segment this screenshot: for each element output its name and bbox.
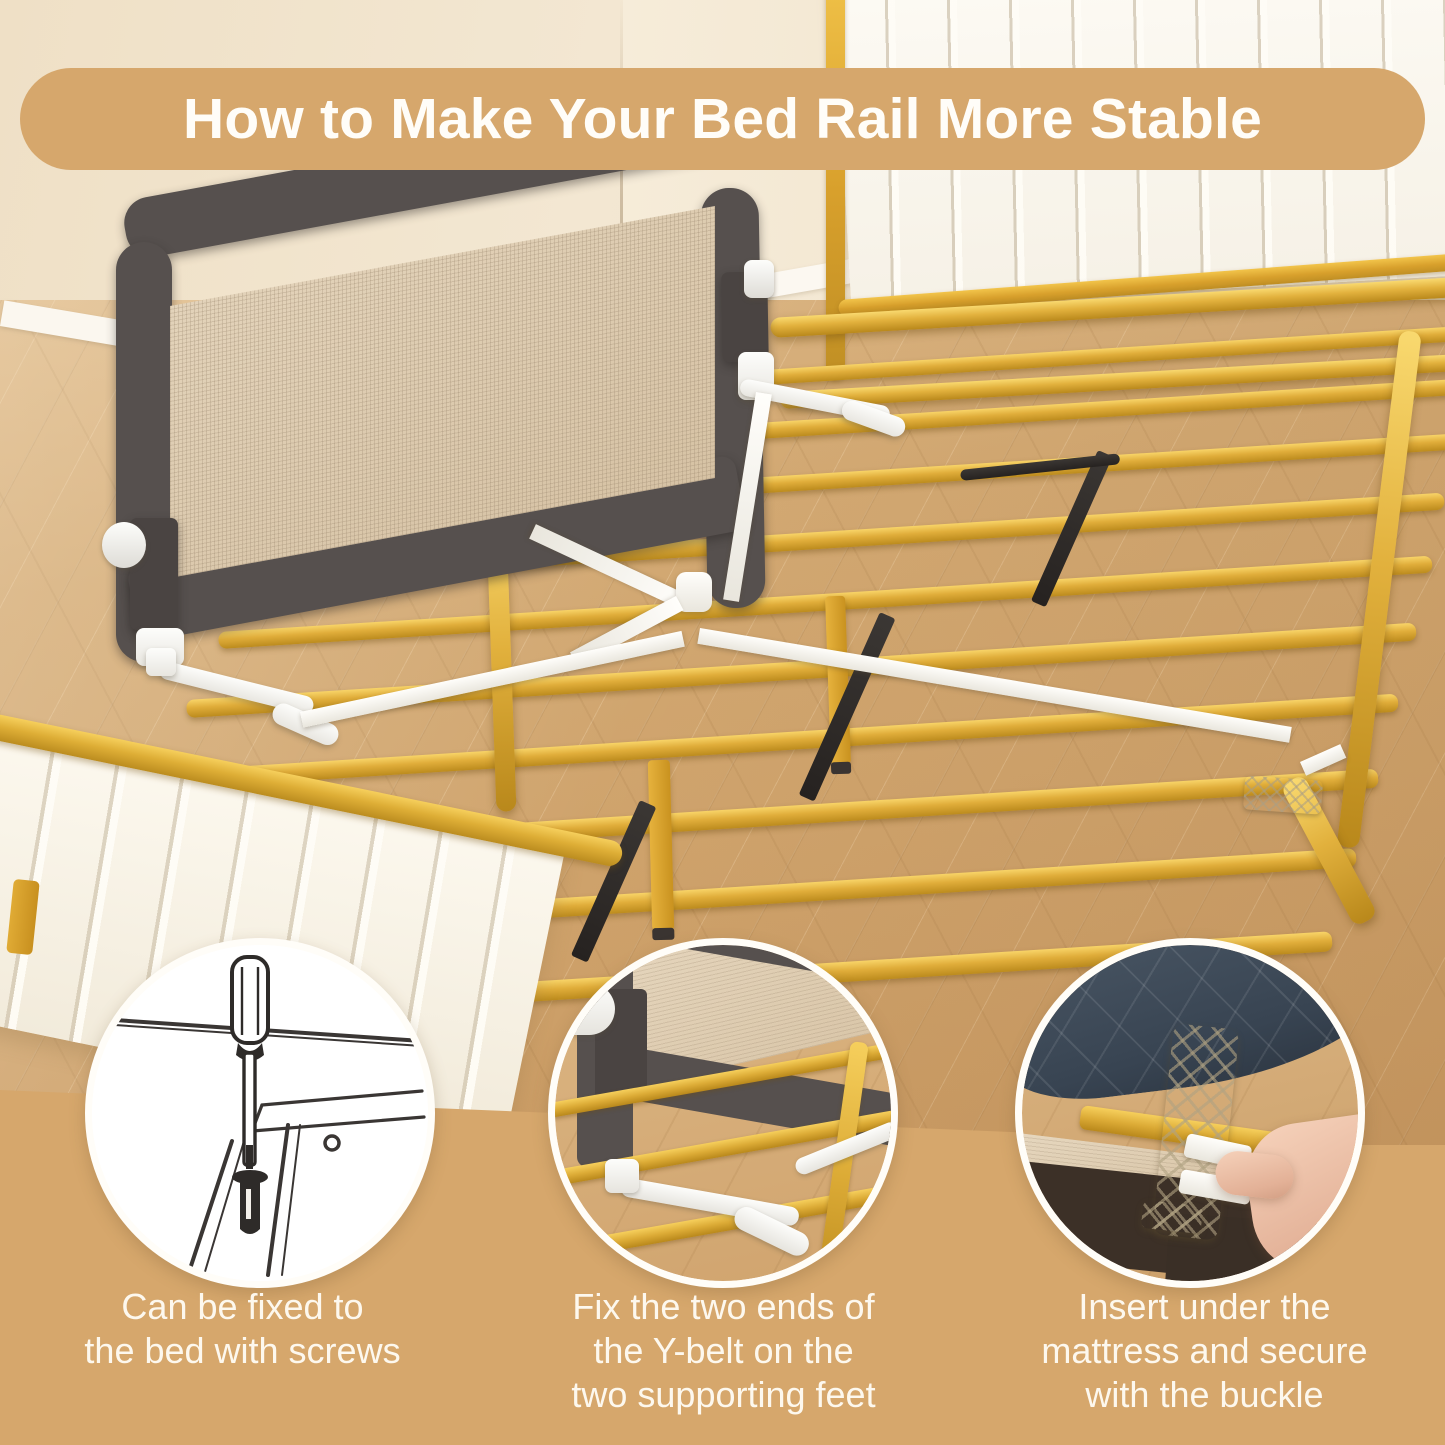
inset2-adjust-knob (555, 983, 615, 1035)
inset-circle-buckle (1015, 938, 1365, 1288)
infographic-root: How to Make Your Bed Rail More Stable (0, 0, 1445, 1445)
caption-screws-line-2: the bed with screws (10, 1329, 475, 1373)
inset-circle-y-belt (548, 938, 898, 1288)
inset-circle-screws-content (92, 945, 428, 1281)
caption-buckle-line-2: mattress and secure (972, 1329, 1437, 1373)
inset-circle-buckle-content (1022, 945, 1358, 1281)
caption-screws-line-1: Can be fixed to (10, 1285, 475, 1329)
screwdriver-icon (232, 957, 268, 1234)
bed-rail (108, 188, 808, 688)
caption-buckle: Insert under the mattress and secure wit… (964, 1285, 1445, 1417)
caption-y-belt-line-2: the Y-belt on the (491, 1329, 956, 1373)
y-belt-buckle (1243, 775, 1323, 814)
caption-screws: Can be fixed to the bed with screws (0, 1285, 483, 1373)
supporting-foot-left-bracket (146, 648, 176, 676)
inset2-supporting-foot-bracket (605, 1159, 639, 1193)
caption-y-belt-line-1: Fix the two ends of (491, 1285, 956, 1329)
screwdriver-line-drawing (92, 945, 428, 1281)
rail-adjust-knob-left (102, 522, 146, 568)
screwdriver-diagram-svg (92, 945, 428, 1281)
rail-adjust-knob-right (744, 260, 774, 298)
caption-y-belt-line-3: two supporting feet (491, 1373, 956, 1417)
caption-y-belt: Fix the two ends of the Y-belt on the tw… (483, 1285, 964, 1417)
title-banner: How to Make Your Bed Rail More Stable (20, 68, 1425, 170)
inset-circle-screws (85, 938, 435, 1288)
captions-row: Can be fixed to the bed with screws Fix … (0, 1285, 1445, 1445)
caption-buckle-line-1: Insert under the (972, 1285, 1437, 1329)
caption-buckle-line-3: with the buckle (972, 1373, 1437, 1417)
page-title: How to Make Your Bed Rail More Stable (183, 91, 1262, 148)
inset-circle-y-belt-content (555, 945, 891, 1281)
frame-center-leg-2 (648, 760, 674, 931)
